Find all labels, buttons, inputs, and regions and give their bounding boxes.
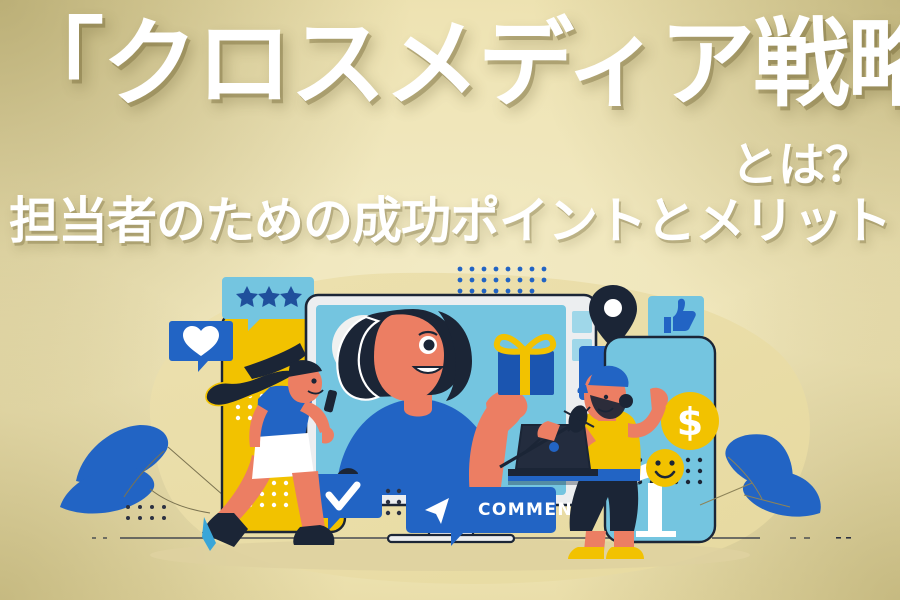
dollar-coin-icon: $	[661, 392, 719, 450]
ground-line-dash-right	[836, 537, 851, 539]
comment-button-label: COMMENT	[478, 500, 586, 520]
smiley-face-icon	[646, 449, 684, 487]
svg-text:$: $	[677, 400, 703, 444]
dot-grid-decoration	[126, 505, 166, 520]
page-subtitle: 担当者のための成功ポイントとメリット	[0, 196, 900, 246]
page-title: 「クロスメディア戦略」	[8, 16, 892, 112]
illustration: COMMENT	[0, 255, 900, 600]
hero-banner: 「クロスメディア戦略」 とは？ 担当者のための成功ポイントとメリット	[0, 0, 900, 600]
title-suffix: とは？	[731, 142, 872, 189]
ground-shadow	[150, 539, 750, 571]
